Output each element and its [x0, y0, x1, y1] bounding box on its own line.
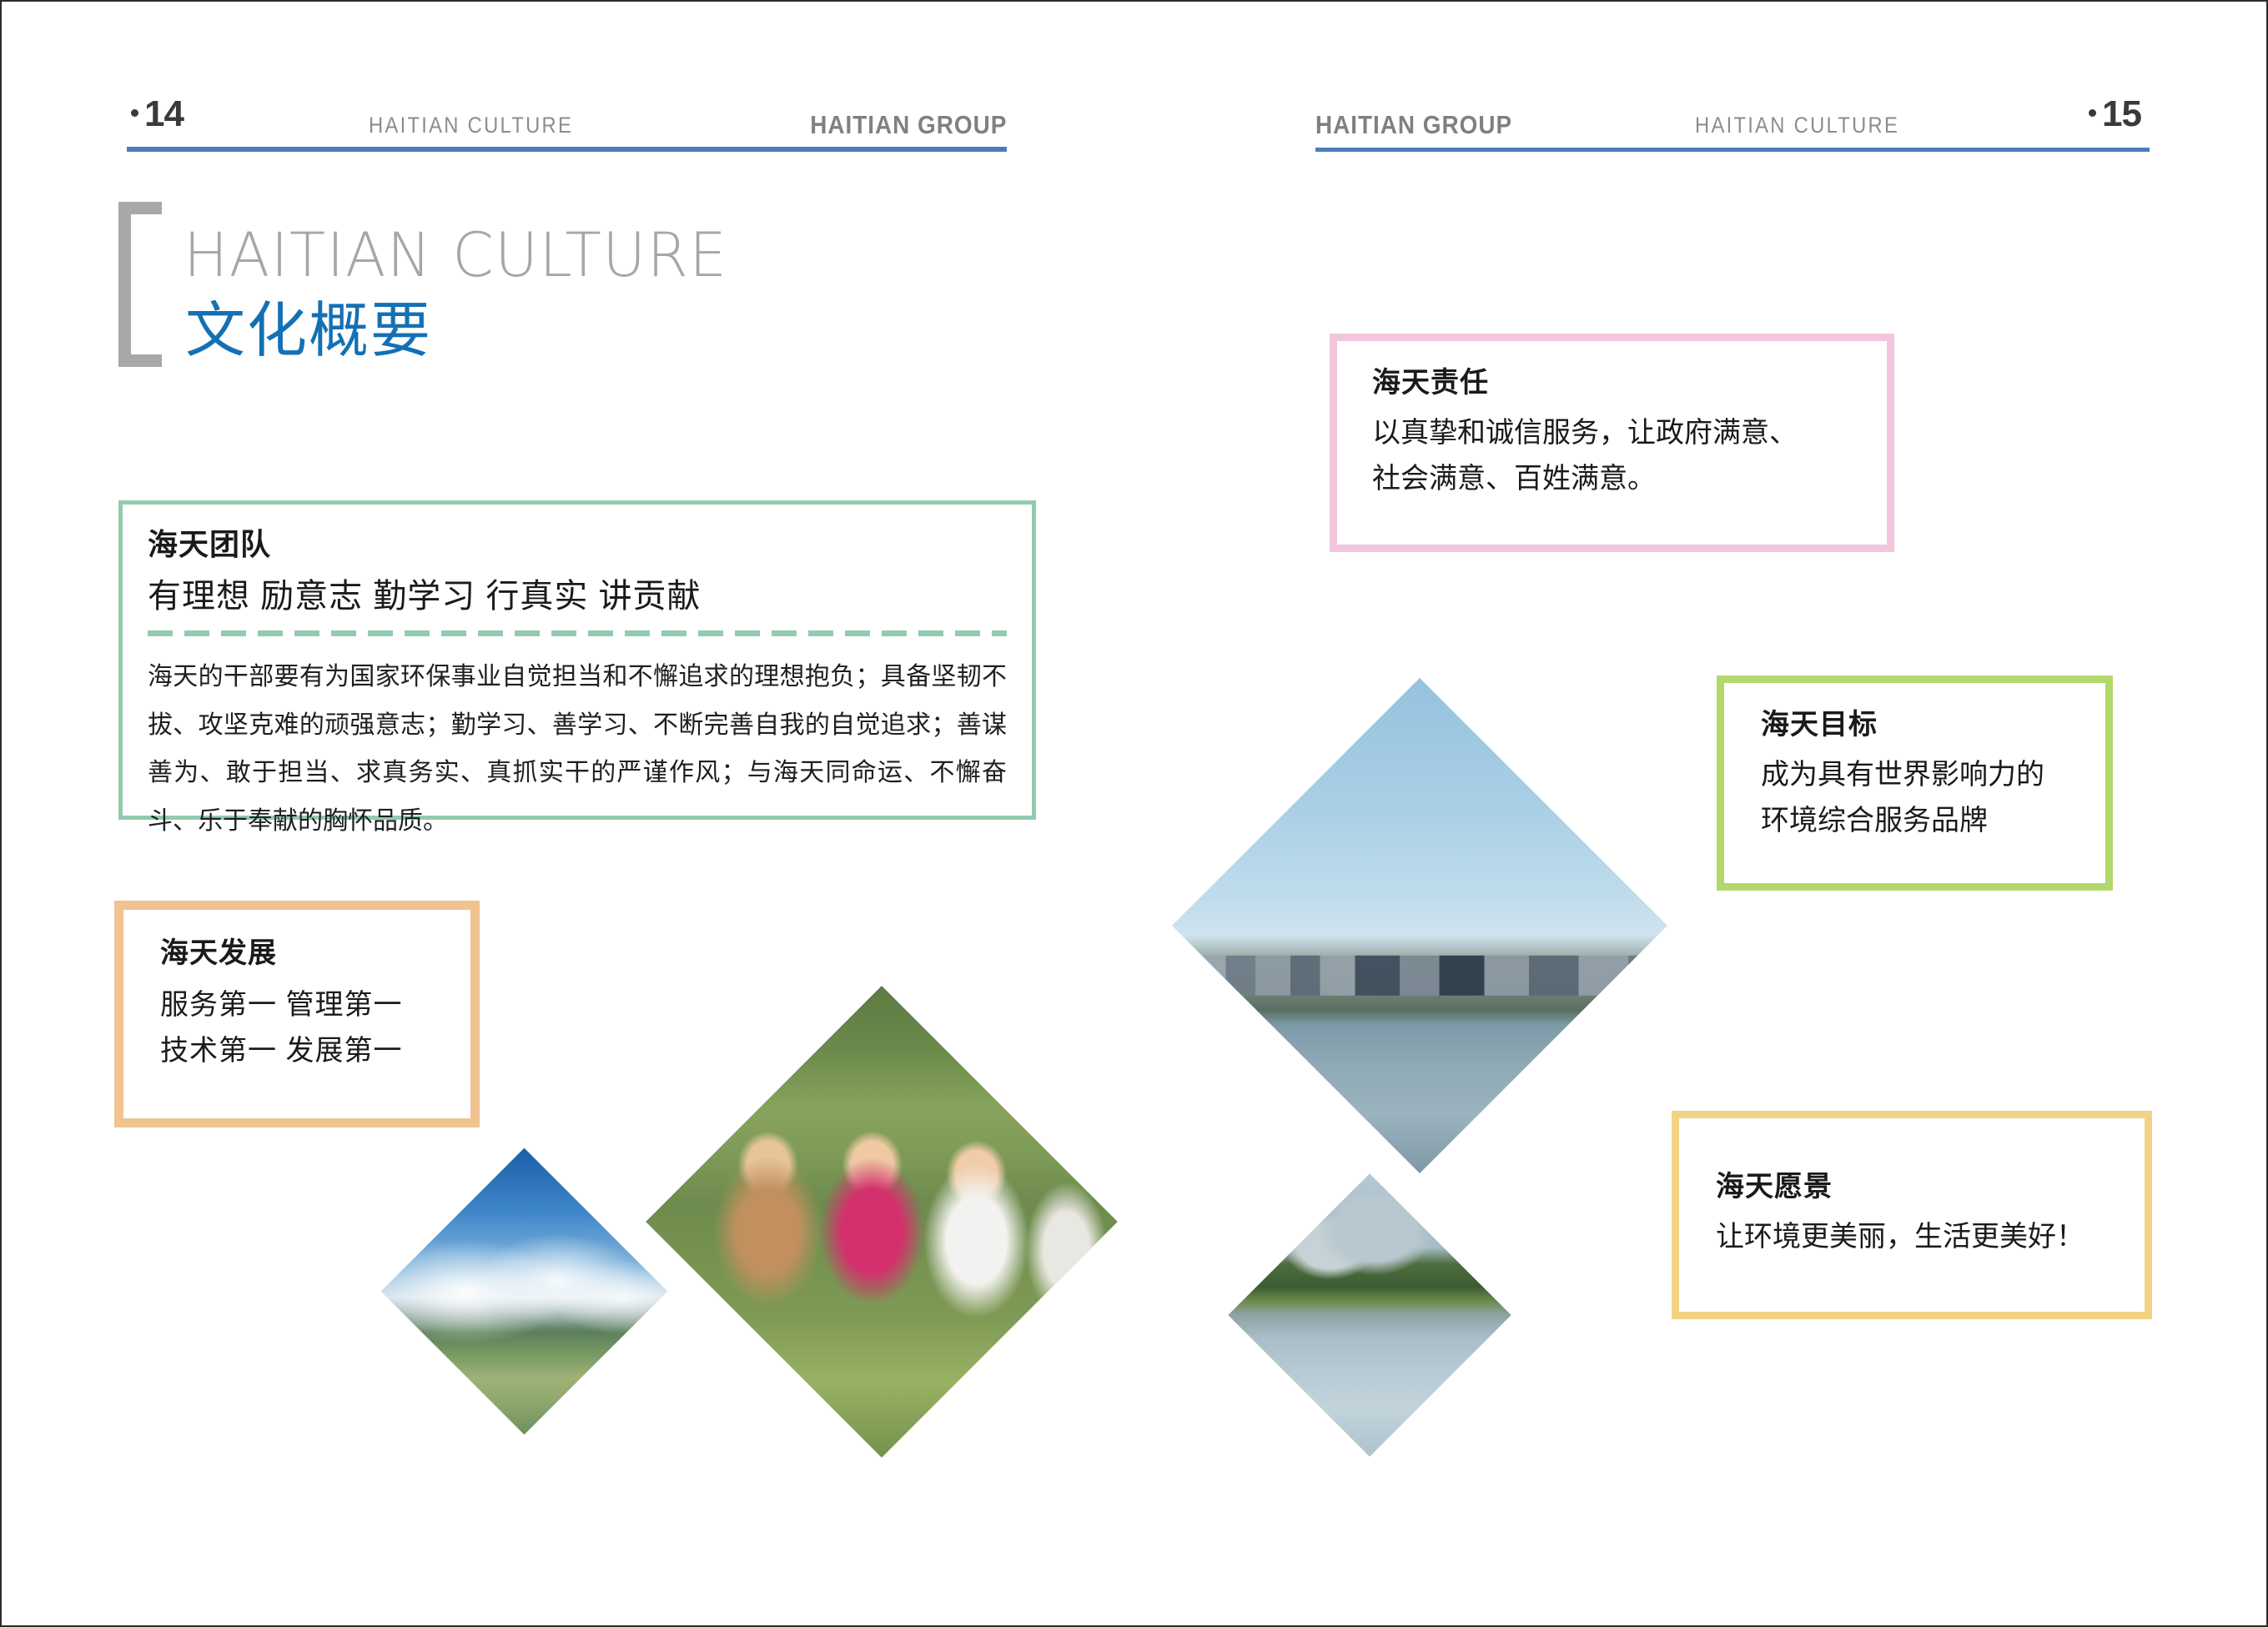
folio-dot-icon	[131, 109, 138, 117]
brochure-spread: HAITIAN CULTURE HAITIAN GROUP 14 HAITIAN…	[0, 0, 2268, 1627]
goal-box-title: 海天目标	[1761, 708, 2105, 742]
photo-li-river-raft-image	[1228, 1173, 1511, 1456]
page-number-right: 15	[2089, 93, 2141, 152]
photo-city-skyline-lake-image	[1172, 678, 1667, 1173]
photo-city-skyline-lake-diamond	[1172, 678, 1667, 1173]
left-page-header: HAITIAN CULTURE HAITIAN GROUP	[127, 93, 1007, 152]
team-box-slogan: 有理想 励意志 勤学习 行真实 讲贡献	[148, 569, 1007, 617]
development-box-title: 海天发展	[160, 937, 470, 971]
folio-left-value: 14	[144, 93, 184, 134]
photo-city-aerial-diamond	[381, 1148, 668, 1435]
folio-right-value: 15	[2102, 93, 2141, 134]
team-box-paragraph: 海天的干部要有为国家环保事业自觉担当和不懈追求的理想抱负；具备坚韧不拔、攻坚克难…	[148, 653, 1007, 845]
photo-family-grass-image	[646, 986, 1118, 1458]
photo-li-river-raft-diamond	[1228, 1173, 1511, 1456]
development-box-line-1: 服务第一 管理第一	[160, 982, 470, 1028]
right-header-rule	[1315, 148, 2150, 152]
bracket-decoration-icon	[118, 202, 162, 367]
team-box-title: 海天团队	[148, 526, 1007, 562]
value-box-team: 海天团队 有理想 励意志 勤学习 行真实 讲贡献 海天的干部要有为国家环保事业自…	[118, 500, 1036, 820]
left-header-rule	[127, 147, 1007, 152]
development-box-line-2: 技术第一 发展第一	[160, 1028, 470, 1074]
vision-box-line-1: 让环境更美丽，生活更美好！	[1716, 1214, 2145, 1260]
goal-box-line-2: 环境综合服务品牌	[1761, 798, 2105, 844]
left-header-group-label: HAITIAN GROUP	[810, 110, 1007, 140]
value-box-development: 海天发展 服务第一 管理第一 技术第一 发展第一	[114, 901, 480, 1127]
value-box-goal: 海天目标 成为具有世界影响力的 环境综合服务品牌	[1717, 675, 2113, 891]
right-page-header: HAITIAN GROUP HAITIAN CULTURE	[1315, 93, 2150, 152]
goal-box-line-1: 成为具有世界影响力的	[1761, 752, 2105, 798]
page-title-chinese: 文化概要	[185, 281, 432, 369]
photo-city-aerial-image	[381, 1148, 668, 1435]
photo-family-grass-diamond	[646, 986, 1118, 1458]
page-number-left: 14	[131, 93, 184, 152]
value-box-responsibility: 海天责任 以真挚和诚信服务，让政府满意、 社会满意、百姓满意。	[1330, 334, 1894, 552]
value-box-vision: 海天愿景 让环境更美丽，生活更美好！	[1672, 1111, 2152, 1319]
left-header-culture-label: HAITIAN CULTURE	[369, 113, 573, 138]
right-header-culture-label: HAITIAN CULTURE	[1695, 113, 1899, 138]
responsibility-box-line-1: 以真挚和诚信服务，让政府满意、	[1372, 410, 1887, 456]
folio-dot-icon	[2089, 109, 2096, 117]
team-box-divider	[148, 630, 1007, 636]
vision-box-title: 海天愿景	[1716, 1170, 2145, 1204]
responsibility-box-line-2: 社会满意、百姓满意。	[1372, 456, 1887, 502]
responsibility-box-title: 海天责任	[1372, 366, 1887, 400]
right-header-group-label: HAITIAN GROUP	[1315, 110, 1512, 140]
